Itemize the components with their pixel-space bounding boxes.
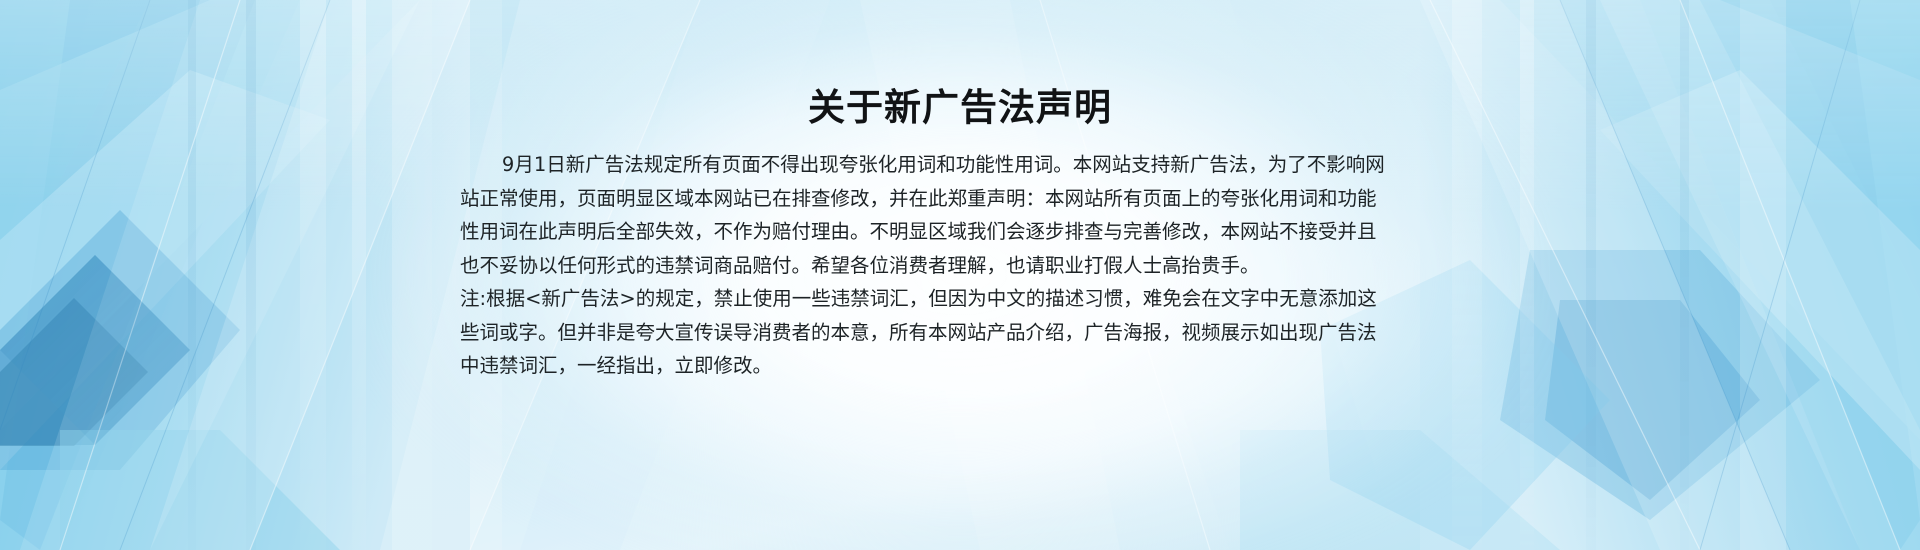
abstract-blue-geometric-background	[0, 0, 1920, 550]
advertising-law-statement-banner: 关于新广告法声明 9月1日新广告法规定所有页面不得出现夸张化用词和功能性用词。本…	[0, 0, 1920, 550]
